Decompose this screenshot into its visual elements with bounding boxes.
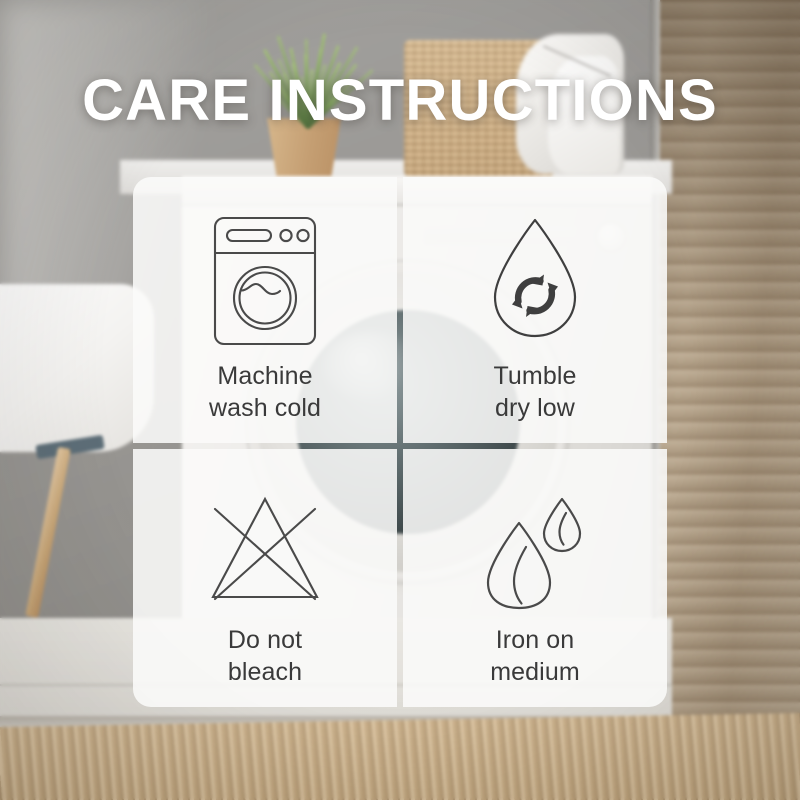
chair-seat xyxy=(0,284,154,452)
care-symbol-grid: Machine wash cold Tum xyxy=(133,177,667,707)
two-droplets-icon xyxy=(474,479,596,619)
slat-rug xyxy=(0,713,800,800)
washing-machine-icon xyxy=(211,207,319,355)
care-card-label: Tumble dry low xyxy=(493,361,576,424)
triangle-crossed-icon xyxy=(201,479,329,619)
care-card-label: Do not bleach xyxy=(228,625,302,688)
care-instructions-graphic: CARE INSTRUCTIONS Machine wash cold xyxy=(0,0,800,800)
care-card-label: Iron on medium xyxy=(490,625,580,688)
page-title: CARE INSTRUCTIONS xyxy=(0,72,800,130)
care-card-do-not-bleach[interactable]: Do not bleach xyxy=(133,449,397,707)
droplet-refresh-icon xyxy=(477,207,593,355)
care-card-label: Machine wash cold xyxy=(209,361,321,424)
care-card-tumble-dry-low[interactable]: Tumble dry low xyxy=(403,177,667,443)
wood-panel-shadow xyxy=(660,0,800,360)
care-card-machine-wash-cold[interactable]: Machine wash cold xyxy=(133,177,397,443)
care-card-iron-on-medium[interactable]: Iron on medium xyxy=(403,449,667,707)
